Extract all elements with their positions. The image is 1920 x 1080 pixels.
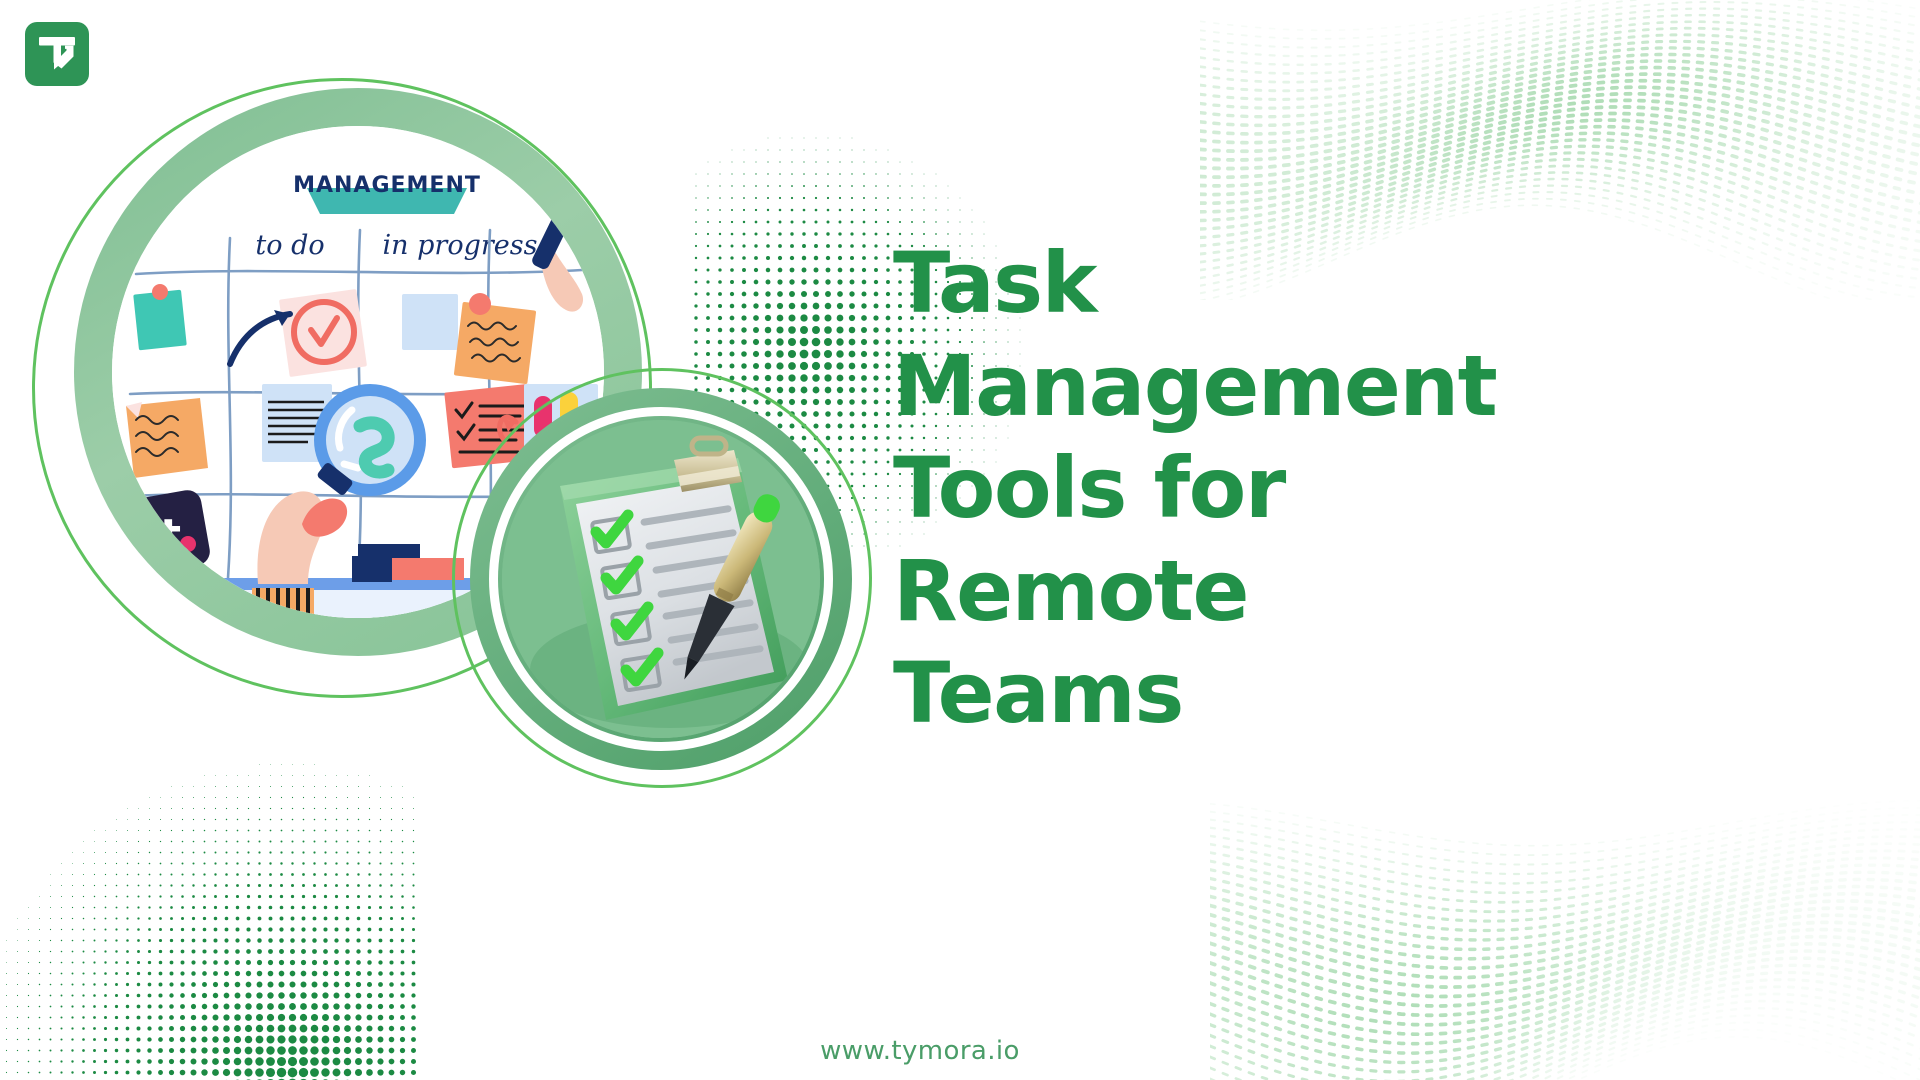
site-url[interactable]: www.tymora.io	[0, 1036, 1920, 1066]
headline-line-2: Management	[893, 335, 1593, 437]
headline-line-5: Teams	[893, 642, 1593, 744]
column-label-inprogress: in progress	[383, 230, 538, 261]
halftone-wave-bottom-right-icon	[1210, 780, 1920, 1080]
brand-logo[interactable]	[25, 22, 89, 86]
board-title: MANAGEMENT	[293, 173, 481, 198]
badge-band-ring	[470, 388, 852, 770]
headline-line-3: Tools for	[893, 437, 1593, 539]
tymora-t-arrow-logo-icon	[35, 32, 79, 76]
headline-line-1: Task	[893, 232, 1593, 334]
green-clipboard-checklist-with-pen	[502, 420, 820, 738]
badge-white-ring	[489, 407, 833, 751]
headline-line-4: Remote	[893, 540, 1593, 642]
badge-illustration-circle	[502, 420, 820, 738]
poster-canvas: MANAGEMENT to do in progress	[0, 0, 1920, 1080]
halftone-dot-gradient-bottom-left-icon	[0, 660, 420, 1080]
page-title: Task Management Tools for Remote Teams	[893, 232, 1593, 744]
column-label-todo: to do	[255, 230, 324, 261]
